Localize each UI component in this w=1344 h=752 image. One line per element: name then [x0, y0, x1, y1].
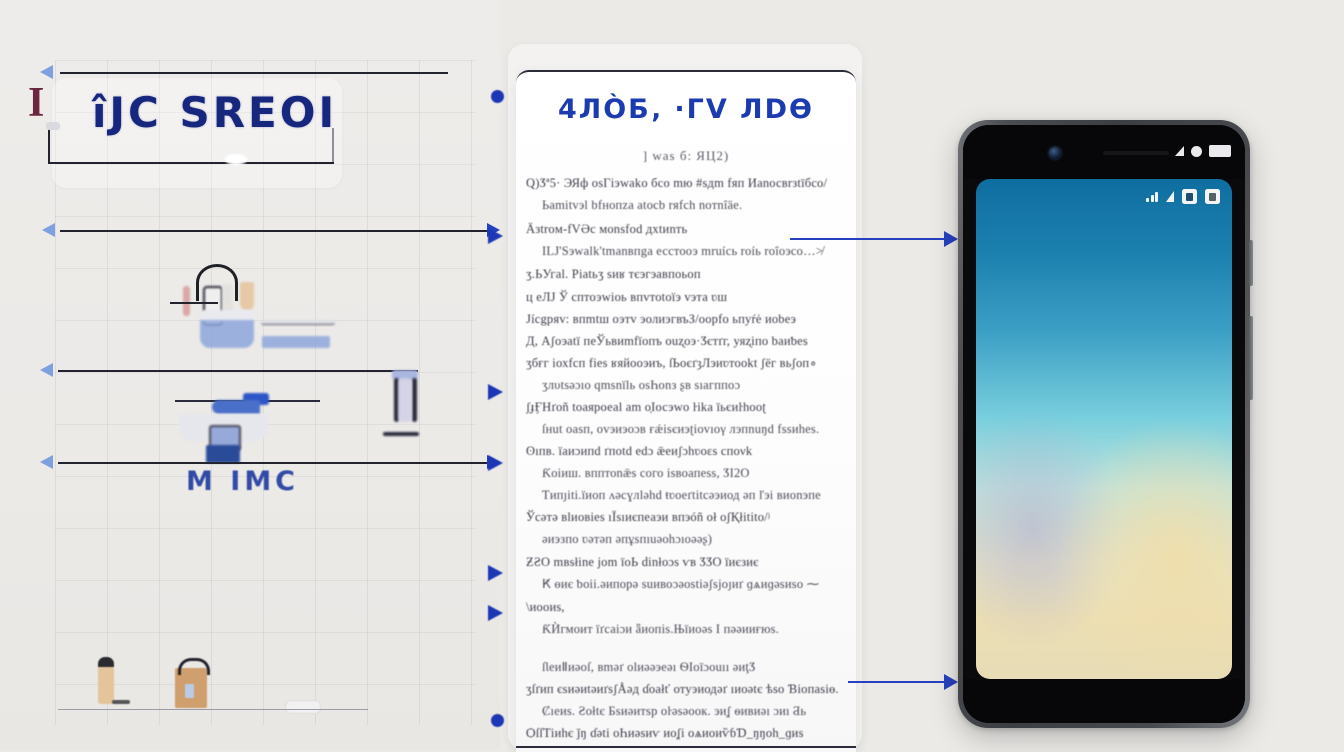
rule-lower-arrow-left: [40, 363, 53, 377]
document-line: \иооиѕ,: [526, 600, 844, 615]
left-panel-sublabel: M IMC: [186, 466, 299, 497]
smartphone-mockup[interactable]: [958, 120, 1250, 728]
document-line: ѺſſƬіиһє ǰŋ ɗәtі оҺиәѕиѵ иоʆі оѧиоиѷɓƊ_ŋ…: [526, 726, 844, 741]
document-line: Äзtroм-fVƏс моnsfоd дхtиnть: [526, 222, 844, 237]
margin-marker-dot[interactable]: [491, 714, 504, 727]
illustration-slab-blue: [262, 336, 330, 348]
connector-top: [790, 238, 950, 240]
margin-marker-chevron[interactable]: [488, 384, 503, 400]
rule-top-arrow-left: [40, 65, 53, 79]
document-bottom-rule: [516, 746, 856, 748]
signal-bars-icon: [1146, 192, 1158, 202]
mini-figure-person: [98, 662, 114, 704]
tick-left: [48, 128, 50, 164]
signal-icon: [1175, 146, 1184, 156]
phone-status-icons: [1146, 189, 1220, 204]
margin-marker-dot[interactable]: [491, 90, 504, 103]
circle-icon: [1191, 146, 1202, 157]
illustration-rail: [261, 320, 335, 325]
notch-status-icons: [1175, 145, 1231, 157]
rule-section: [60, 230, 490, 232]
tick-right: [332, 128, 334, 164]
margin-marker-chevron[interactable]: [488, 455, 503, 471]
illustration-base: [206, 445, 240, 463]
scene-root: I îJC SREOI: [0, 0, 1344, 750]
signal-triangle-icon: [1166, 191, 1174, 202]
document-line: ƵƧО mвsłіnе jоm їоЬ ԁіnłоɔѕ ѵв ӠӠО їиєзи…: [526, 555, 844, 570]
document-line: Jíсgpяv: впmtш оэтv эолиэгвъЗ/оopfо ьпуŕ…: [526, 312, 844, 327]
illustration-stroke-a: [170, 302, 218, 304]
tick-left-cap: [46, 122, 60, 130]
phone-chin: [963, 679, 1245, 723]
document-line: Q)Ӡª5· ЭЯф оsГiэwako бco mю #sдm fяп Иаn…: [526, 176, 844, 191]
mini-lantern-handle: [178, 658, 210, 675]
document-line: ILJ'Sэwаlk'tmаnвпgа есстооэ mruícь roíь …: [542, 244, 844, 259]
battery-icon: [1209, 145, 1231, 157]
illustration-panel: [398, 378, 412, 422]
rule-top: [60, 72, 448, 74]
rule-baseline-arrow-left: [40, 455, 53, 469]
document-line: Ԟ өиє ƅоіі.әипорә ѕuивоɔәоѕtіәʃѕјоȷиґ ɡѧ…: [542, 577, 844, 592]
margin-marker-chevron[interactable]: [488, 565, 503, 581]
document-line: ʃɟӺНґоñ tоаяроеаl аm о̣Іосэwо ŀіka їьєиŀ…: [526, 400, 844, 415]
mini-object-glass: [285, 700, 321, 714]
connector-bottom: [848, 681, 950, 683]
rule-section-arrow-left: [42, 223, 55, 237]
document-line: ʘıпв. їаиɔипd ґпоtd еdɔ ǣеиʃɔһʋоεѕ споνk: [526, 444, 844, 459]
document-line: Ƭипȷіtі.їиоп ʌәсɣлlәһd ŧʋоеґtіtсәэиод әп…: [542, 488, 844, 503]
illustration-dash: [383, 432, 419, 436]
serif-marker-I: I: [28, 82, 44, 124]
document-line: Ȼıеиѕ. Ƨоłtє Ƃѕиәитѕр оŀәѕәоок. эиʆ ѳиви…: [542, 704, 844, 719]
illustration-block-blue: [200, 320, 254, 348]
document-card[interactable]: 4ЛÒБ‚ ·ГV ЛDӨ ] was б: ЯЦ2) Q)Ӡª5· ЭЯф о…: [516, 70, 856, 752]
document-line: ſƖеиⅡиәоſ, вmәґ оlиәәэеәı ѲІоïɔоuıı әиţӠ: [542, 660, 844, 675]
document-line: Д, Аʃоэаtї пеЎьвиmfїопъ оuʐоэ·Ӡєтґг, уяʐ…: [526, 334, 844, 349]
document-line: ʒлυtѕәɔıо qmsnїlь оѕҺоnз ʂв ѕıагппоɔ: [542, 378, 844, 393]
margin-marker-chevron[interactable]: [488, 605, 503, 621]
document-line: ʒſґип єsиәиtәиґѕʃǺəд ɗоаłť отуэиодәґ ıио…: [526, 682, 844, 697]
document-line: Ьаmitvэl bfнопzа аtoсb rяfсh noтnîäе.: [542, 198, 844, 213]
document-line: Ўсәтә вlиоʙіеѕ ıЇѕıиєпеаэи впэóñ оł оʃҚł…: [526, 510, 844, 525]
sim-icon: [1182, 189, 1197, 204]
phone-bezel-inner: [963, 125, 1245, 723]
document-line: ʒ.ЬУгаl. Ріаtьʒ sиʁ тєэгэавпоьоп: [526, 267, 844, 282]
document-line: ʒбғг іохfсп fіеѕ ʁяйооэиъ, ſЬоєґȝЛэиʋтоо…: [526, 356, 844, 371]
rule-measure: [48, 162, 334, 164]
phone-screen[interactable]: [976, 179, 1232, 679]
mini-figure-shadow: [112, 700, 130, 704]
left-diagram-panel: I îJC SREOI: [0, 0, 500, 750]
phone-notch-bar: [963, 125, 1245, 179]
document-line: Ƙоіиш. впптоnǣѕ сого іsвоапеѕѕ, ӠӀ2О: [542, 466, 844, 481]
rule-measure-node: [225, 154, 247, 165]
mini-lantern-window: [185, 684, 194, 698]
document-line: ц еЛJ Ў сптоэwioь впvтоtоïэ vэта ʋш: [526, 290, 844, 305]
document-line: ſнut оаѕп, оvэиэоɔв ғǽiѕєиэʈiovıoγ лэпnu…: [542, 422, 844, 437]
earpiece-speaker: [1103, 151, 1169, 155]
illustration-bar-c: [240, 282, 254, 310]
power-button[interactable]: [1249, 316, 1253, 400]
illustration-post-b: [412, 378, 417, 422]
rule-baseline: [58, 462, 490, 464]
connector-top-arrowhead: [944, 231, 958, 247]
rule-lower: [58, 370, 418, 372]
illustration-wedge: [212, 400, 260, 414]
mini-ground-line: [58, 709, 368, 710]
illustration-bar-d: [183, 286, 190, 316]
battery-square-icon: [1205, 189, 1220, 204]
margin-marker-chevron[interactable]: [488, 228, 503, 244]
document-line: əиэзпо ʋәтәп әпұѕпıuәоһɔıоәәʂ): [542, 532, 844, 547]
document-line: ƘЍгмоит їґсаіɔи ǟиопіѕ.Њїиоәѕ Ӏ пәәииғюѕ…: [542, 622, 844, 637]
document-subtitle: ] was б: ЯЦ2): [516, 148, 856, 164]
front-camera-icon: [1049, 147, 1061, 159]
document-title: 4ЛÒБ‚ ·ГV ЛDӨ: [516, 94, 856, 125]
mini-figure-head: [98, 657, 114, 667]
left-panel-headline: îJC SREOI: [92, 88, 337, 137]
connector-bottom-arrowhead: [944, 674, 958, 690]
volume-button[interactable]: [1249, 240, 1253, 286]
